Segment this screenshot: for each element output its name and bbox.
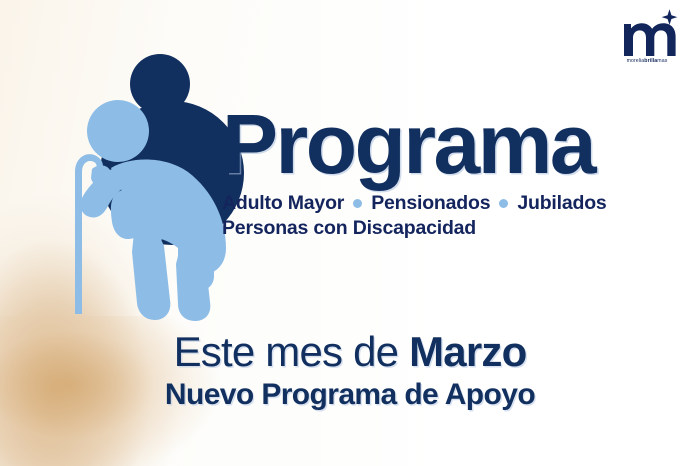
page-title: Programa [222, 104, 672, 185]
beneficiary-pensionados: Pensionados [371, 191, 490, 217]
announcement-prefix: Este mes de [174, 328, 399, 375]
brand-logo: moreliabrillamas [616, 6, 686, 72]
bullet-dot-icon [499, 199, 508, 208]
announcement-subline: Nuevo Programa de Apoyo [0, 378, 700, 411]
logo-tagline-prefix: morelia [627, 58, 645, 64]
announcement-block: Este mes de Marzo Nuevo Programa de Apoy… [0, 330, 700, 411]
logo-tagline-bold: brilla [644, 58, 657, 64]
announcement-month-line: Este mes de Marzo [0, 330, 700, 375]
beneficiaries-row-1: Adulto Mayor Pensionados Jubilados [222, 191, 672, 217]
beneficiary-personas-con-discapacidad: Personas con Discapacidad [222, 216, 476, 242]
morelia-m-logo [616, 6, 686, 58]
headline-block: Programa Adulto Mayor Pensionados Jubila… [222, 104, 672, 242]
logo-tagline-suffix: mas [657, 58, 667, 64]
promotional-poster: moreliabrillamas Pr [0, 0, 700, 466]
beneficiary-adulto-mayor: Adulto Mayor [222, 191, 344, 217]
bullet-dot-icon [353, 199, 362, 208]
beneficiaries-list: Adulto Mayor Pensionados Jubilados Perso… [222, 191, 672, 242]
announcement-month: Marzo [409, 328, 526, 375]
logo-tagline: moreliabrillamas [616, 58, 678, 64]
front-figure-head [87, 100, 149, 162]
beneficiaries-row-2: Personas con Discapacidad [222, 216, 672, 242]
beneficiary-jubilados: Jubilados [517, 191, 606, 217]
